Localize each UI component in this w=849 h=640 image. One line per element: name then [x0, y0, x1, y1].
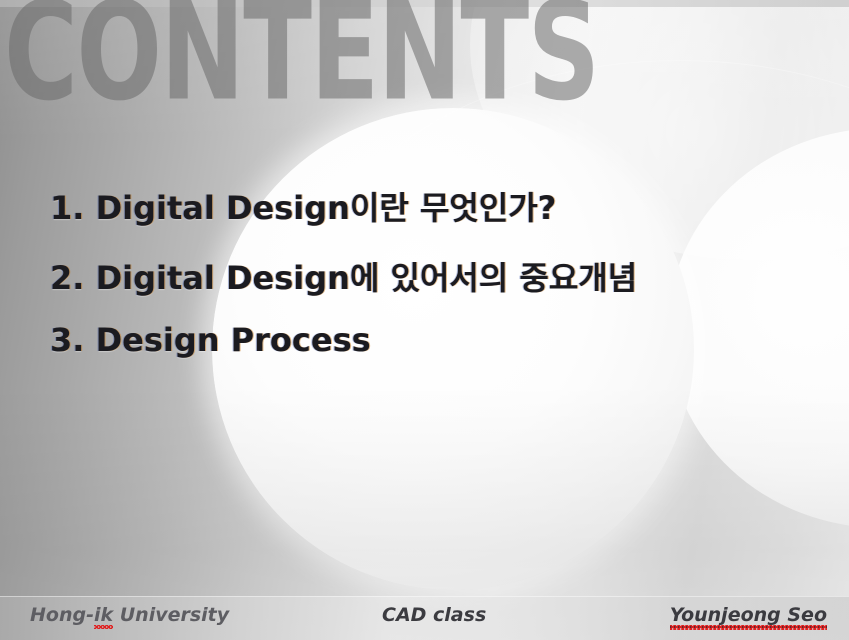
agenda-item-2: 2. Digital Design에 있어서의 중요개념: [50, 256, 810, 300]
footer-university-suffix: University: [113, 604, 229, 626]
agenda-item-1: 1. Digital Design이란 무엇인가?: [50, 186, 810, 230]
agenda-list: 1. Digital Design이란 무엇인가? 2. Digital Des…: [50, 186, 810, 362]
agenda-item-3: 3. Design Process: [50, 318, 810, 362]
footer-university: Hong-ik University: [30, 604, 229, 626]
page-title: CONTENTS: [4, 0, 599, 120]
footer-university-misspelled: ik: [94, 604, 113, 626]
footer-course: CAD class: [382, 604, 486, 626]
slide-footer: Hong-ik University CAD class Younjeong S…: [0, 596, 849, 640]
footer-author: Younjeong Seo: [670, 604, 827, 628]
footer-author-name: Younjeong Seo: [670, 604, 827, 628]
footer-university-prefix: Hong-: [30, 604, 94, 626]
slide-canvas: CONTENTS 1. Digital Design이란 무엇인가? 2. Di…: [0, 0, 849, 640]
